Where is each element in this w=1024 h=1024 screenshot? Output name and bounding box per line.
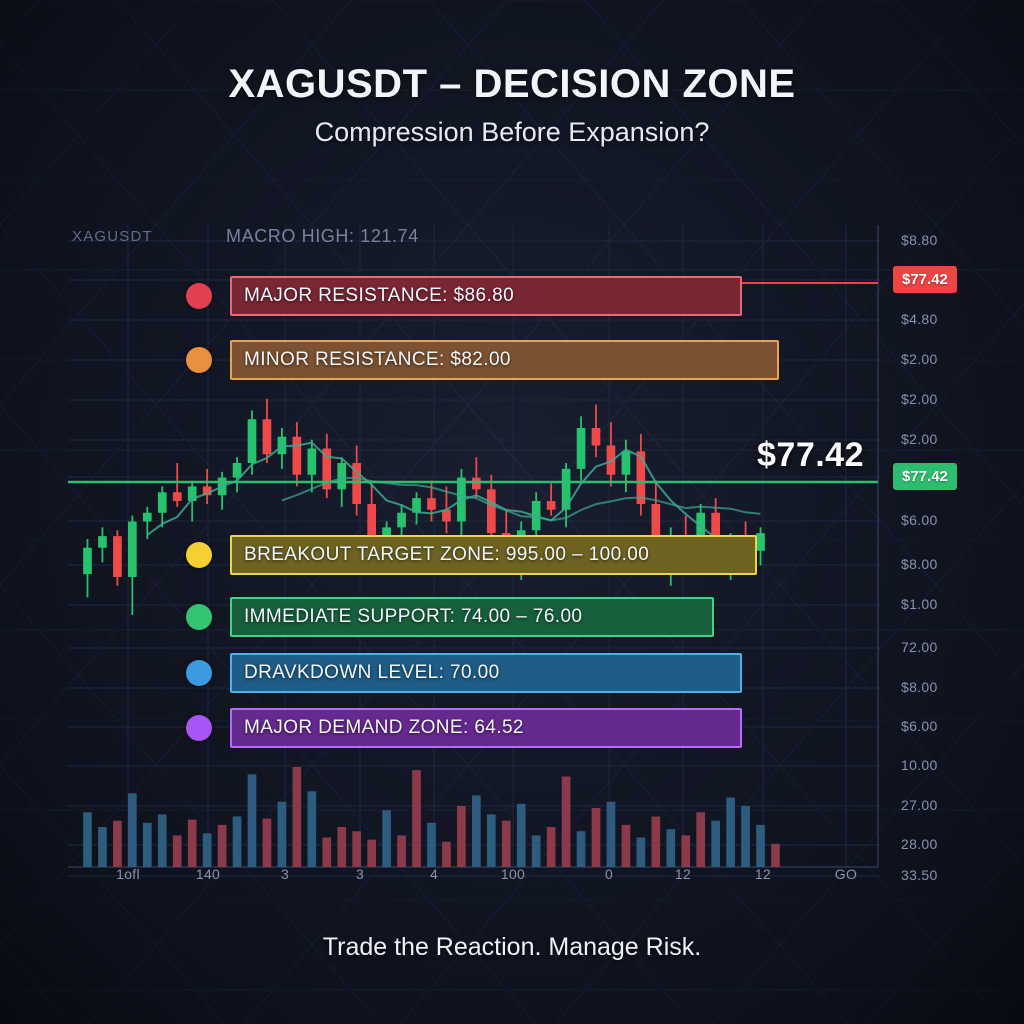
volume-series xyxy=(83,767,780,867)
time-axis-tick: 12 xyxy=(747,866,779,882)
chart-symbol-watermark: XAGUSDT xyxy=(72,228,153,245)
annotation-marker-dot xyxy=(186,604,212,630)
price-axis-tick: $8.00 xyxy=(901,556,938,572)
time-axis-tick: 4 xyxy=(418,866,450,882)
annotation-row[interactable]: BREAKOUT TARGET ZONE: 995.00 – 100.00 xyxy=(186,535,757,575)
annotation-marker-dot xyxy=(186,347,212,373)
annotation-bar[interactable]: BREAKOUT TARGET ZONE: 995.00 – 100.00 xyxy=(230,535,757,575)
page-title: XAGUSDT – DECISION ZONE xyxy=(0,62,1024,107)
price-axis-tick: $6.00 xyxy=(901,718,938,734)
time-axis-tick: 1ofl xyxy=(112,866,144,882)
annotation-label: DRAVKDOWN LEVEL: 70.00 xyxy=(244,662,500,684)
price-axis-tick: 10.00 xyxy=(901,757,938,773)
price-axis-tick: $4.80 xyxy=(901,311,938,327)
price-badge-resistance: $77.42 xyxy=(893,266,957,293)
price-axis-tick: 27.00 xyxy=(901,797,938,813)
time-axis-tick: 140 xyxy=(192,866,224,882)
annotation-row[interactable]: MINOR RESISTANCE: $82.00 xyxy=(186,340,779,380)
ma-fast xyxy=(147,443,760,539)
price-axis-tick: $1.00 xyxy=(901,596,938,612)
annotation-marker-dot xyxy=(186,283,212,309)
annotation-bar[interactable]: IMMEDIATE SUPPORT: 74.00 – 76.00 xyxy=(230,597,714,637)
time-axis-tick: 100 xyxy=(497,866,529,882)
price-badge-last: $77.42 xyxy=(893,463,957,490)
annotation-label: MAJOR DEMAND ZONE: 64.52 xyxy=(244,717,524,739)
last-price-label: $77.42 xyxy=(757,436,864,475)
annotation-label: IMMEDIATE SUPPORT: 74.00 – 76.00 xyxy=(244,606,582,628)
annotation-label: BREAKOUT TARGET ZONE: 995.00 – 100.00 xyxy=(244,544,649,566)
price-axis-tick: $8.80 xyxy=(901,232,938,248)
annotation-label: MAJOR RESISTANCE: $86.80 xyxy=(244,285,514,307)
annotation-bar[interactable]: MAJOR DEMAND ZONE: 64.52 xyxy=(230,708,742,748)
annotation-bar[interactable]: DRAVKDOWN LEVEL: 70.00 xyxy=(230,653,742,693)
footer-tagline: Trade the Reaction. Manage Risk. xyxy=(0,933,1024,962)
annotation-marker-dot xyxy=(186,660,212,686)
annotation-row[interactable]: IMMEDIATE SUPPORT: 74.00 – 76.00 xyxy=(186,597,714,637)
annotation-bar[interactable]: MAJOR RESISTANCE: $86.80 xyxy=(230,276,742,316)
page-subtitle: Compression Before Expansion? xyxy=(0,117,1024,148)
annotation-bar[interactable]: MINOR RESISTANCE: $82.00 xyxy=(230,340,779,380)
price-axis-tick: $2.00 xyxy=(901,431,938,447)
annotation-row[interactable]: MAJOR RESISTANCE: $86.80 xyxy=(186,276,742,316)
time-axis-tick: 12 xyxy=(667,866,699,882)
price-axis-tick: 33.50 xyxy=(901,867,938,883)
annotation-marker-dot xyxy=(186,542,212,568)
header: XAGUSDT – DECISION ZONE Compression Befo… xyxy=(0,62,1024,148)
annotation-label: MINOR RESISTANCE: $82.00 xyxy=(244,349,511,371)
price-axis-tick: $2.00 xyxy=(901,391,938,407)
price-axis-tick: $8.00 xyxy=(901,679,938,695)
time-axis-tick: 3 xyxy=(344,866,376,882)
time-axis-tick: 3 xyxy=(269,866,301,882)
annotation-marker-dot xyxy=(186,715,212,741)
time-axis-tick: GO xyxy=(830,866,862,882)
price-axis-tick: 28.00 xyxy=(901,836,938,852)
time-axis-tick: 0 xyxy=(593,866,625,882)
price-axis-tick: $6.00 xyxy=(901,512,938,528)
annotation-row[interactable]: DRAVKDOWN LEVEL: 70.00 xyxy=(186,653,742,693)
annotation-row[interactable]: MAJOR DEMAND ZONE: 64.52 xyxy=(186,708,742,748)
macro-high-label: MACRO HIGH: 121.74 xyxy=(226,226,419,247)
price-axis-tick: 72.00 xyxy=(901,639,938,655)
price-axis-tick: $2.00 xyxy=(901,351,938,367)
